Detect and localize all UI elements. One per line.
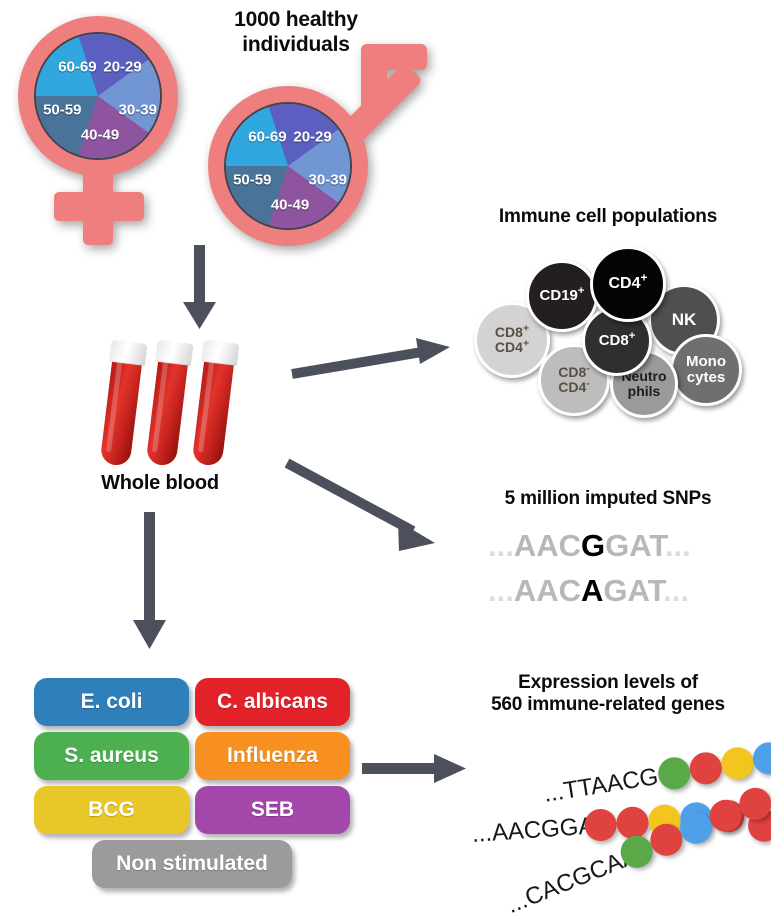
immune-cell-cluster: CD8+CD4+ CD19+ CD4+ NK CD8+ Monocytes CD…	[470, 240, 770, 420]
arrow-stimuli-to-expression	[362, 752, 468, 786]
stimulus-e-coli[interactable]: E. coli	[34, 678, 189, 726]
immune-cell-label: NK	[672, 311, 697, 329]
stimulus-label: C. albicans	[217, 690, 328, 714]
stimulus-seb[interactable]: SEB	[195, 786, 350, 834]
immune-cell-label: CD4+	[608, 276, 647, 293]
expression-strands: ...TTAACGG ...AACGGAT ...CACGCAA	[470, 730, 770, 915]
stimulus-bcg[interactable]: BCG	[34, 786, 189, 834]
stimulus-influenza[interactable]: Influenza	[195, 732, 350, 780]
snp-section-title: 5 million imputed SNPs	[448, 488, 768, 510]
arrow-down-cohort-to-blood	[178, 245, 222, 330]
blood-tube-rim	[155, 340, 193, 366]
stimulus-non-stimulated[interactable]: Non stimulated	[92, 840, 292, 888]
stimulus-s-aureus[interactable]: S. aureus	[34, 732, 189, 780]
stimulus-label: S. aureus	[64, 744, 159, 768]
stimulus-label: E. coli	[81, 690, 143, 714]
nucleotide-bead	[688, 750, 725, 787]
age-group-label: 30-39	[119, 102, 157, 119]
age-group-label: 40-49	[271, 197, 309, 214]
study-design-diagram: 1000 healthy individuals 20-2930-3940-49…	[0, 0, 771, 922]
arrow-blood-to-snp	[285, 455, 455, 560]
blood-tube-rim	[109, 340, 147, 366]
stimulus-c-albicans[interactable]: C. albicans	[195, 678, 350, 726]
whole-blood-tubes	[112, 340, 252, 470]
age-group-label: 40-49	[81, 127, 119, 144]
male-symbol-arrowhead-horizontal	[361, 44, 427, 70]
expression-title-line1: Expression levels of	[448, 672, 768, 694]
snp-row: ...AACGGAT...	[488, 528, 691, 564]
stimulus-label: Influenza	[227, 744, 318, 768]
expression-section-title: Expression levels of 560 immune-related …	[448, 672, 768, 717]
immune-cell-monocytes: Monocytes	[670, 334, 742, 406]
whole-blood-label: Whole blood	[60, 472, 260, 496]
age-group-label: 50-59	[43, 102, 81, 119]
immune-cell-label: Monocytes	[686, 354, 726, 386]
immune-section-title: Immune cell populations	[448, 206, 768, 228]
snp-sequences: ...AACGGAT... ...AACAGAT...	[488, 528, 748, 618]
immune-cell-cd4p: CD4+	[590, 246, 666, 322]
snp-trail: ...	[665, 528, 691, 563]
snp-lead: ...	[488, 528, 514, 563]
arrow-blood-to-immune	[290, 330, 455, 390]
stimulus-label: BCG	[88, 798, 135, 822]
age-group-label: 60-69	[58, 58, 96, 75]
arrow-down-blood-to-stimuli	[128, 512, 172, 652]
female-symbol-crossbar	[54, 192, 144, 221]
stimulus-label: Non stimulated	[116, 852, 268, 876]
snp-suffix: GAT	[605, 528, 665, 563]
male-symbol: 20-2930-3940-4950-5960-69	[198, 38, 428, 253]
expression-title-line2: 560 immune-related genes	[448, 694, 768, 716]
immune-cell-label: CD8+	[599, 333, 636, 349]
immune-cell-label: CD19+	[540, 288, 585, 304]
snp-prefix: AAC	[514, 528, 581, 563]
snp-trail: ...	[663, 573, 689, 608]
age-group-label: 20-29	[103, 58, 141, 75]
snp-row: ...AACAGAT...	[488, 573, 689, 609]
age-pie-male: 20-2930-3940-4950-5960-69	[224, 102, 352, 230]
age-group-label: 20-29	[293, 128, 331, 145]
snp-variant-allele: G	[581, 528, 605, 563]
age-group-label: 50-59	[233, 172, 271, 189]
blood-tube-rim	[201, 340, 239, 366]
immune-cell-label: CD8+CD4+	[495, 325, 529, 354]
snp-prefix: AAC	[514, 573, 581, 608]
nucleotide-bead	[719, 745, 756, 782]
female-symbol: 20-2930-3940-4950-5960-69	[8, 10, 198, 245]
age-group-label: 30-39	[309, 172, 347, 189]
immune-cell-label: CD8-CD4-	[558, 365, 590, 394]
nucleotide-bead	[751, 740, 771, 777]
stimulus-label: SEB	[251, 798, 294, 822]
stimuli-panel: E. coli C. albicans S. aureus Influenza …	[34, 678, 354, 898]
snp-suffix: GAT	[603, 573, 663, 608]
snp-variant-allele: A	[581, 573, 603, 608]
age-pie-female: 20-2930-3940-4950-5960-69	[34, 32, 162, 160]
age-group-label: 60-69	[248, 128, 286, 145]
page-title-line1: 1000 healthy	[180, 8, 412, 33]
snp-lead: ...	[488, 573, 514, 608]
